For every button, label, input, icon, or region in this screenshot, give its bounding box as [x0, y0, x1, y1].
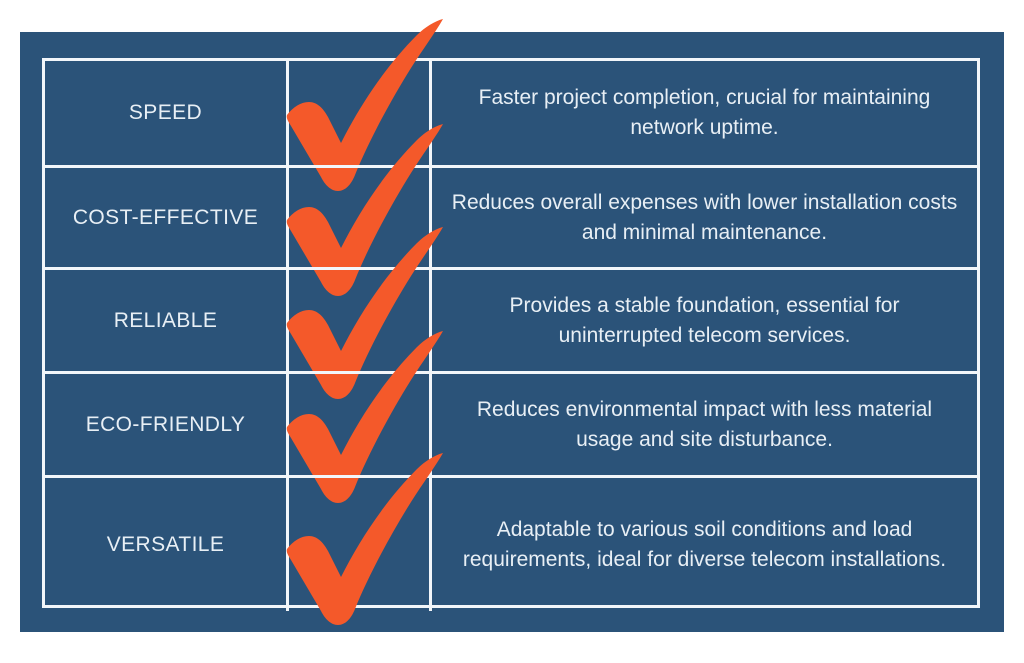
orange-brush-checkmark-icon [267, 457, 457, 632]
row-check-cell [286, 168, 432, 267]
row-label-cell: RELIABLE [45, 270, 286, 371]
row-description-text: Reduces environmental impact with less m… [450, 395, 959, 455]
row-description-text: Adaptable to various soil conditions and… [450, 515, 959, 575]
table-row: VERSATILE Adaptable to various soil cond… [45, 475, 977, 611]
benefits-table: SPEED Faster project completion, crucial… [42, 58, 980, 608]
row-description-cell: Faster project completion, crucial for m… [432, 61, 977, 165]
row-check-cell [286, 270, 432, 371]
row-description-cell: Reduces overall expenses with lower inst… [432, 168, 977, 267]
row-check-cell [286, 478, 432, 611]
table-row: RELIABLE Provides a stable foundation, e… [45, 267, 977, 371]
row-check-cell [286, 61, 432, 165]
row-description-text: Faster project completion, crucial for m… [450, 83, 959, 143]
row-label-text: RELIABLE [114, 309, 218, 333]
row-description-cell: Provides a stable foundation, essential … [432, 270, 977, 371]
row-label-text: SPEED [129, 101, 202, 125]
table-row: ECO-FRIENDLY Reduces environmental impac… [45, 371, 977, 475]
row-description-cell: Reduces environmental impact with less m… [432, 374, 977, 475]
row-label-cell: VERSATILE [45, 478, 286, 611]
row-label-cell: ECO-FRIENDLY [45, 374, 286, 475]
row-label-text: VERSATILE [107, 533, 225, 557]
row-description-cell: Adaptable to various soil conditions and… [432, 478, 977, 611]
row-label-cell: SPEED [45, 61, 286, 165]
table-row: SPEED Faster project completion, crucial… [45, 61, 977, 165]
row-label-text: ECO-FRIENDLY [86, 413, 246, 437]
row-check-cell [286, 374, 432, 475]
row-label-cell: COST-EFFECTIVE [45, 168, 286, 267]
benefits-table-graphic: SPEED Faster project completion, crucial… [0, 0, 1024, 663]
row-description-text: Reduces overall expenses with lower inst… [450, 188, 959, 248]
row-description-text: Provides a stable foundation, essential … [450, 291, 959, 351]
row-label-text: COST-EFFECTIVE [73, 206, 258, 230]
table-row: COST-EFFECTIVE Reduces overall expenses … [45, 165, 977, 267]
